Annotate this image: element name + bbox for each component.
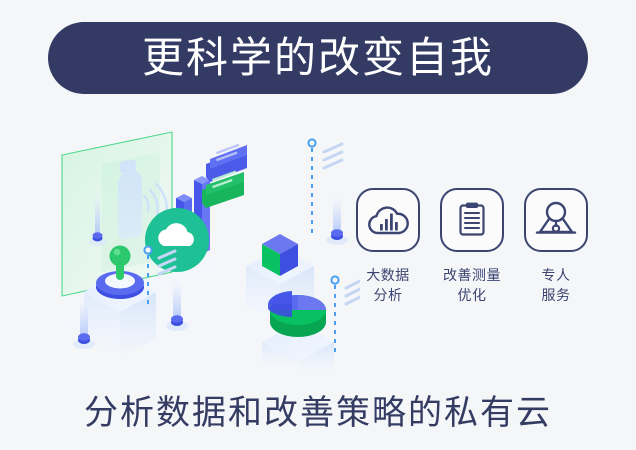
support-person-icon — [534, 201, 578, 239]
feature-badge-big-data — [356, 188, 420, 252]
pie-chart-3d — [268, 291, 326, 337]
feature-label-big-data: 大数据 分析 — [366, 266, 410, 307]
isometric-illustration — [40, 120, 360, 370]
poster-root: 更科学的改变自我 — [0, 0, 636, 450]
clipboard-icon — [452, 200, 492, 240]
dash-marks-upper — [324, 144, 342, 168]
cloud-bar-chart-icon — [367, 203, 409, 237]
feature-label-line1: 改善测量 — [443, 266, 501, 286]
feature-label-line2: 优化 — [443, 286, 501, 306]
feature-label-line2: 分析 — [366, 286, 410, 306]
header-banner: 更科学的改变自我 — [48, 22, 588, 94]
illustration-container — [40, 120, 360, 370]
feature-label-line1: 专人 — [542, 266, 571, 286]
feature-item-support[interactable]: 专人 服务 — [520, 188, 592, 307]
feature-item-measurement[interactable]: 改善测量 优化 — [436, 188, 508, 307]
tagline: 分析数据和改善策略的私有云 — [0, 385, 636, 434]
feature-badge-support — [524, 188, 588, 252]
feature-badge-measurement — [440, 188, 504, 252]
feature-label-line2: 服务 — [542, 286, 571, 306]
light-beam-right — [326, 188, 348, 245]
page-title: 更科学的改变自我 — [142, 37, 494, 79]
dotted-connector-upper — [308, 139, 315, 238]
feature-list: 大数据 分析 改善测量 优化 — [352, 188, 592, 336]
feature-label-line1: 大数据 — [366, 266, 410, 286]
feature-label-measurement: 改善测量 优化 — [443, 266, 501, 307]
feature-item-big-data[interactable]: 大数据 分析 — [352, 188, 424, 307]
feature-label-support: 专人 服务 — [542, 266, 571, 307]
